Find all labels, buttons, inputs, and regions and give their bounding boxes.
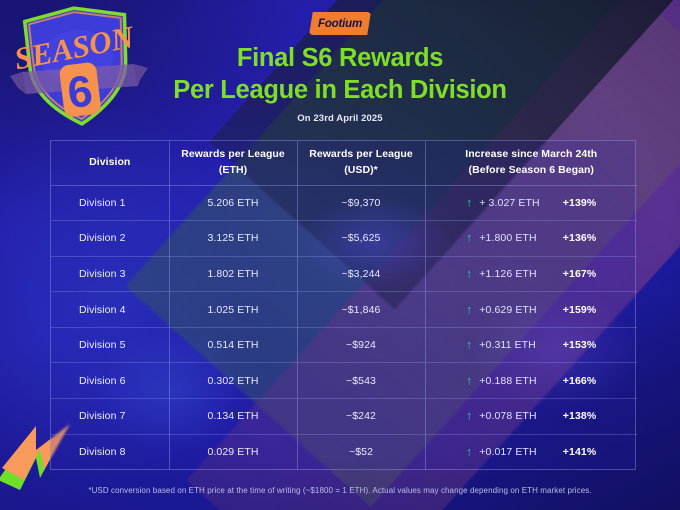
cell-division: Division 1: [51, 185, 169, 221]
cell-increase: ↑+0.017 ETH+141%: [425, 434, 637, 470]
increase-group: ↑+0.311 ETH+153%: [432, 339, 632, 351]
table-header: Division Rewards per League (ETH) Reward…: [51, 141, 637, 185]
increase-group: ↑+0.078 ETH+138%: [432, 410, 632, 422]
cell-rewards-usd: ~$52: [297, 434, 425, 470]
increase-percent-value: +153%: [558, 339, 596, 351]
cell-rewards-eth: 0.029 ETH: [169, 434, 297, 470]
column-header-rewards-eth: Rewards per League (ETH): [169, 141, 297, 185]
page-title: Final S6 Rewards Per League in Each Divi…: [0, 42, 680, 106]
footium-logo: Footium: [309, 12, 371, 35]
cell-rewards-usd: ~$1,846: [297, 292, 425, 328]
cell-division: Division 6: [51, 363, 169, 399]
cell-increase: ↑+0.078 ETH+138%: [425, 399, 637, 435]
cell-rewards-eth: 1.802 ETH: [169, 256, 297, 292]
up-arrow-icon: ↑: [466, 232, 472, 244]
table-row: Division 41.025 ETH~$1,846↑+0.629 ETH+15…: [51, 292, 637, 328]
column-header-increase-line-2: (Before Season 6 Began): [430, 163, 634, 179]
column-header-rewards-eth-line-1: Rewards per League: [174, 147, 293, 163]
increase-percent-value: +141%: [558, 446, 596, 458]
increase-eth-value: +0.629 ETH: [479, 304, 551, 316]
increase-percent-value: +136%: [558, 232, 596, 244]
cell-increase: ↑+0.629 ETH+159%: [425, 292, 637, 328]
page-title-line-1: Final S6 Rewards: [0, 42, 680, 74]
cell-rewards-eth: 5.206 ETH: [169, 185, 297, 221]
increase-group: ↑+1.800 ETH+136%: [432, 232, 632, 244]
cell-rewards-usd: ~$3,244: [297, 256, 425, 292]
increase-eth-value: +0.188 ETH: [479, 375, 551, 387]
up-arrow-icon: ↑: [466, 446, 472, 458]
rewards-table-container: Division Rewards per League (ETH) Reward…: [50, 140, 636, 470]
increase-group: ↑+0.629 ETH+159%: [432, 304, 632, 316]
page-subtitle-date: On 23rd April 2025: [0, 113, 680, 124]
footnote-usd-conversion: *USD conversion based on ETH price at th…: [0, 486, 680, 495]
up-arrow-icon: ↑: [466, 303, 472, 315]
up-arrow-icon: ↑: [466, 196, 472, 208]
increase-percent-value: +139%: [558, 197, 596, 209]
up-arrow-icon: ↑: [466, 267, 472, 279]
column-header-increase-line-1: Increase since March 24th: [430, 147, 634, 163]
column-header-division: Division: [51, 141, 169, 185]
increase-group: ↑+0.188 ETH+166%: [432, 375, 632, 387]
increase-group: ↑+ 3.027 ETH+139%: [432, 197, 632, 209]
cell-rewards-usd: ~$242: [297, 399, 425, 435]
column-header-rewards-usd-line-2: (USD)*: [302, 163, 421, 179]
table-row: Division 31.802 ETH~$3,244↑+1.126 ETH+16…: [51, 256, 637, 292]
cell-division: Division 2: [51, 221, 169, 257]
cell-increase: ↑+ 3.027 ETH+139%: [425, 185, 637, 221]
cell-increase: ↑+0.188 ETH+166%: [425, 363, 637, 399]
cell-rewards-usd: ~$5,625: [297, 221, 425, 257]
increase-eth-value: +0.078 ETH: [479, 410, 551, 422]
cell-rewards-eth: 0.514 ETH: [169, 327, 297, 363]
table-row: Division 70.134 ETH~$242↑+0.078 ETH+138%: [51, 399, 637, 435]
cell-division: Division 3: [51, 256, 169, 292]
infographic-canvas: SEASON 6 Footium Final S6 Rewards Per Le…: [0, 0, 680, 510]
cell-rewards-usd: ~$924: [297, 327, 425, 363]
increase-group: ↑+1.126 ETH+167%: [432, 268, 632, 280]
cell-division: Division 4: [51, 292, 169, 328]
column-header-rewards-usd-line-1: Rewards per League: [302, 147, 421, 163]
table-row: Division 50.514 ETH~$924↑+0.311 ETH+153%: [51, 327, 637, 363]
cell-rewards-eth: 0.302 ETH: [169, 363, 297, 399]
cell-rewards-eth: 3.125 ETH: [169, 221, 297, 257]
table-header-row: Division Rewards per League (ETH) Reward…: [51, 141, 637, 185]
increase-eth-value: +0.017 ETH: [479, 446, 551, 458]
cell-rewards-usd: ~$543: [297, 363, 425, 399]
cell-increase: ↑+0.311 ETH+153%: [425, 327, 637, 363]
table-row: Division 23.125 ETH~$5,625↑+1.800 ETH+13…: [51, 221, 637, 257]
column-header-rewards-usd: Rewards per League (USD)*: [297, 141, 425, 185]
up-arrow-icon: ↑: [466, 339, 472, 351]
increase-percent-value: +138%: [558, 410, 596, 422]
table-row: Division 60.302 ETH~$543↑+0.188 ETH+166%: [51, 363, 637, 399]
increase-eth-value: +1.126 ETH: [479, 268, 551, 280]
increase-eth-value: +1.800 ETH: [479, 232, 551, 244]
column-header-rewards-eth-line-2: (ETH): [174, 163, 293, 179]
cell-rewards-eth: 1.025 ETH: [169, 292, 297, 328]
table-row: Division 80.029 ETH~$52↑+0.017 ETH+141%: [51, 434, 637, 470]
cell-division: Division 5: [51, 327, 169, 363]
column-header-increase: Increase since March 24th (Before Season…: [425, 141, 637, 185]
cell-division: Division 7: [51, 399, 169, 435]
cell-rewards-eth: 0.134 ETH: [169, 399, 297, 435]
increase-eth-value: +0.311 ETH: [479, 339, 551, 351]
table-row: Division 15.206 ETH~$9,370↑+ 3.027 ETH+1…: [51, 185, 637, 221]
cell-rewards-usd: ~$9,370: [297, 185, 425, 221]
page-title-line-2: Per League in Each Division: [0, 74, 680, 106]
up-arrow-icon: ↑: [466, 374, 472, 386]
increase-percent-value: +159%: [558, 304, 596, 316]
cell-division: Division 8: [51, 434, 169, 470]
cell-increase: ↑+1.126 ETH+167%: [425, 256, 637, 292]
increase-group: ↑+0.017 ETH+141%: [432, 446, 632, 458]
increase-eth-value: + 3.027 ETH: [479, 197, 551, 209]
table-body: Division 15.206 ETH~$9,370↑+ 3.027 ETH+1…: [51, 185, 637, 470]
rewards-table: Division Rewards per League (ETH) Reward…: [51, 141, 637, 470]
up-arrow-icon: ↑: [466, 410, 472, 422]
increase-percent-value: +167%: [558, 268, 596, 280]
footium-logo-text: Footium: [318, 18, 362, 30]
cell-increase: ↑+1.800 ETH+136%: [425, 221, 637, 257]
increase-percent-value: +166%: [558, 375, 596, 387]
